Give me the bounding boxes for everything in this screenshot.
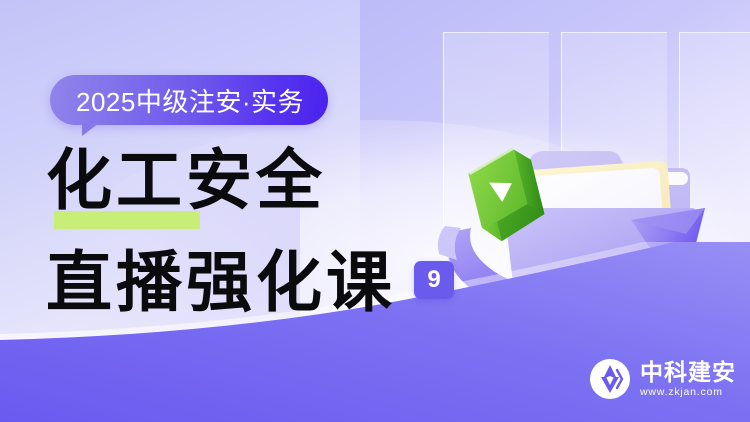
brand-mark-icon	[589, 358, 631, 400]
brand-name: 中科建安	[640, 360, 736, 384]
course-poster: 2025中级注安·实务 化工安全 直播强化课 9 中科建安 www.zkjan.…	[0, 0, 750, 422]
course-badge-label: 2025中级注安·实务	[76, 82, 304, 119]
title-row-2: 直播强化课 9	[46, 229, 466, 325]
episode-number-badge: 9	[414, 261, 454, 299]
course-badge-wrapper: 2025中级注安·实务	[50, 75, 328, 125]
brand-url: www.zkjan.com	[640, 387, 736, 398]
title-line-2: 直播强化课	[46, 229, 396, 325]
brand-text: 中科建安 www.zkjan.com	[640, 360, 736, 398]
title-row-1: 化工安全	[46, 147, 466, 213]
course-badge: 2025中级注安·实务	[50, 75, 328, 125]
title-line-1: 化工安全	[46, 147, 466, 213]
brand-logo[interactable]: 中科建安 www.zkjan.com	[589, 358, 736, 400]
headline-block: 化工安全 直播强化课 9	[46, 147, 466, 325]
badge-tail	[82, 123, 99, 136]
